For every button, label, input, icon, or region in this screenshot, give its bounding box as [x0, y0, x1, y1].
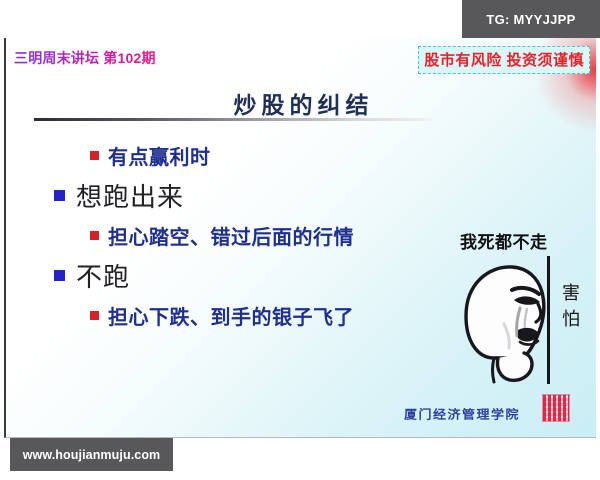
- list-item: 想跑出来: [54, 174, 446, 216]
- red-square-bullet-icon: [90, 231, 99, 240]
- red-square-bullet-icon: [90, 311, 99, 320]
- cartoon-vertical-label: 害怕: [558, 280, 584, 332]
- blue-square-bullet-icon: [54, 270, 65, 281]
- blue-square-bullet-icon: [54, 190, 65, 201]
- red-seal-stamp-icon: [542, 394, 570, 422]
- lecture-series-label: 三明周末讲坛 第102期: [14, 48, 156, 68]
- list-item: 有点赢利时: [90, 136, 446, 174]
- site-watermark: www.houjianmuju.com: [10, 438, 173, 471]
- school-name-label: 厦门经济管理学院: [404, 405, 520, 422]
- list-item: 担心踏空、错过后面的行情: [90, 216, 446, 254]
- list-item-label: 有点赢利时: [108, 141, 211, 170]
- list-item: 担心下跌、到手的银子飞了: [90, 296, 446, 334]
- tg-watermark: TG: MYYJJPP: [462, 0, 600, 38]
- list-item-label: 担心踏空、错过后面的行情: [108, 221, 354, 250]
- bullet-list: 有点赢利时 想跑出来 担心踏空、错过后面的行情 不跑 担心下跌、到手的银子飞了: [6, 136, 446, 334]
- screenshot-root: TG: MYYJJPP 三明周末讲坛 第102期 股市有风险 投资须谨慎 炒股的…: [0, 0, 600, 480]
- slide-header: 三明周末讲坛 第102期 股市有风险 投资须谨慎: [6, 48, 596, 74]
- cartoon-vertical-rule: [547, 256, 550, 384]
- cartoon-caption: 我死都不走: [460, 228, 548, 253]
- title-divider-rule: [34, 118, 432, 121]
- list-item-label: 想跑出来: [76, 177, 184, 214]
- presentation-slide: 三明周末讲坛 第102期 股市有风险 投资须谨慎 炒股的纠结 有点赢利时 想跑出…: [4, 38, 596, 438]
- crying-face-profile-icon: [454, 254, 559, 389]
- slide-title: 炒股的纠结: [6, 86, 596, 120]
- list-item: 不跑: [54, 254, 446, 296]
- cartoon-illustration: 我死都不走: [454, 228, 594, 398]
- red-square-bullet-icon: [90, 151, 99, 160]
- list-item-label: 不跑: [76, 257, 130, 294]
- risk-warning-banner: 股市有风险 投资须谨慎: [418, 46, 590, 74]
- list-item-label: 担心下跌、到手的银子飞了: [108, 301, 354, 330]
